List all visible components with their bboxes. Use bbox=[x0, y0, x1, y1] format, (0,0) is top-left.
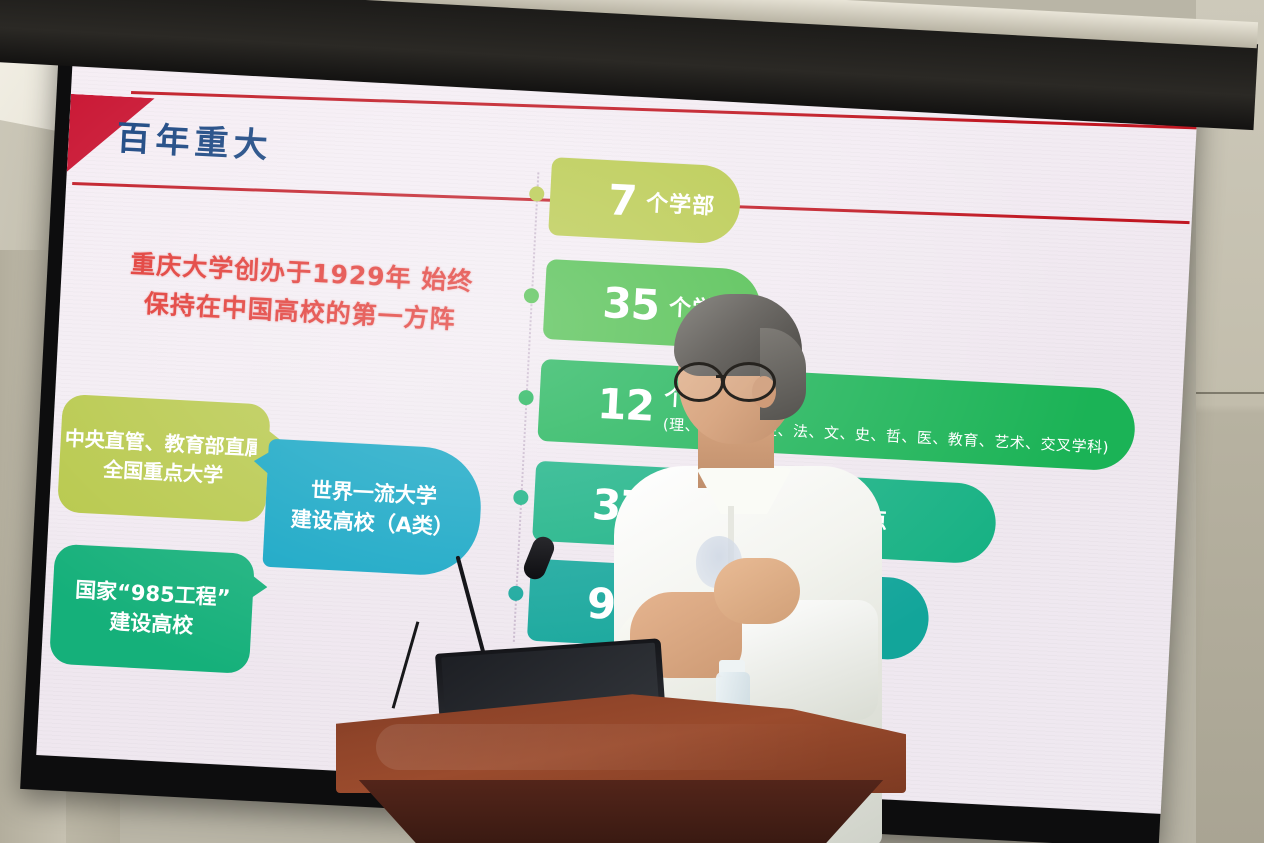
headline-line-1: 重庆大学创办于1929年 bbox=[130, 249, 413, 293]
podium-front-panel bbox=[336, 688, 906, 793]
podium bbox=[336, 688, 906, 843]
timeline-dot-4 bbox=[513, 490, 529, 506]
tag-world-class: 世界一流大学 建设高校（A类） bbox=[262, 439, 483, 578]
photo-scene: 重庆大学 CHONGQING UNIVERSITY 百年重大 重庆大学创办于19… bbox=[0, 0, 1264, 843]
speaker-hand-right bbox=[714, 558, 800, 624]
timeline-dot-2 bbox=[524, 288, 540, 304]
stat-number: 7 bbox=[607, 175, 638, 225]
podium-base bbox=[336, 780, 906, 843]
timeline-dot-5 bbox=[508, 585, 524, 601]
tag-project-985: 国家“985工程” 建设高校 bbox=[49, 544, 255, 674]
stat-row-departments: 7 个学部 bbox=[548, 157, 742, 245]
headline-block: 重庆大学创办于1929年 始终保持在中国高校的第一方阵 bbox=[119, 245, 483, 341]
tag-line-1: 国家“985工程” bbox=[74, 574, 231, 613]
slide-title: 百年重大 bbox=[116, 110, 274, 167]
lens-left bbox=[674, 362, 724, 402]
tag-line-2: 建设高校 bbox=[108, 607, 193, 642]
tag-central-ministry: 中央直管、教育部直属 全国重点大学 bbox=[57, 394, 271, 523]
tag-line-2: 全国重点大学 bbox=[102, 455, 223, 490]
timeline-dot-3 bbox=[518, 390, 534, 406]
podium-highlight bbox=[376, 724, 836, 770]
stat-label: 个学部 bbox=[645, 185, 716, 221]
eyeglasses-icon bbox=[674, 362, 778, 396]
glasses-bridge bbox=[716, 375, 726, 378]
lens-right bbox=[722, 362, 776, 402]
